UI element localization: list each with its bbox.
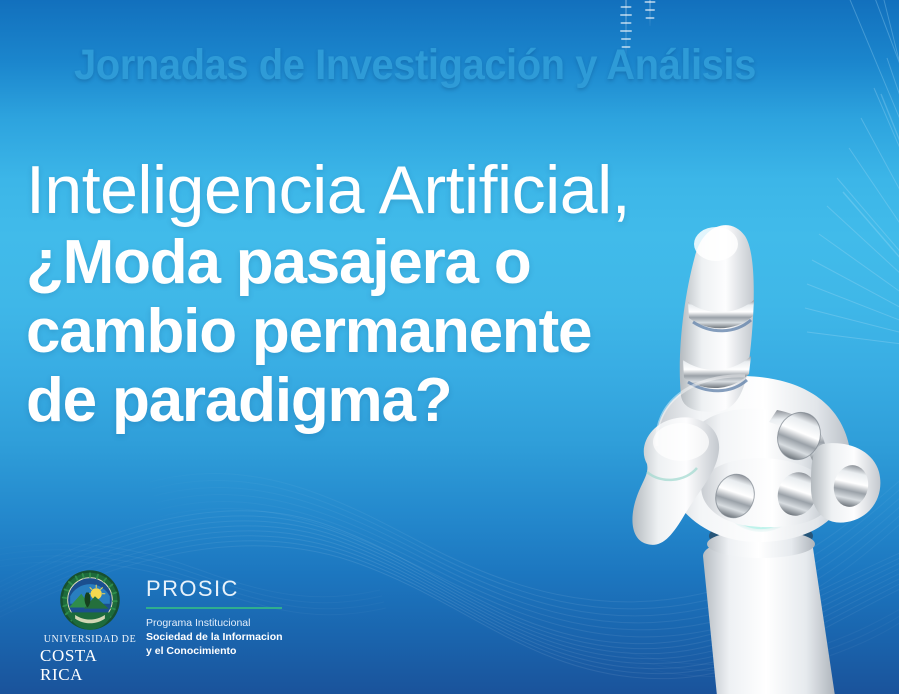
footer-logos: UNIVERSIDAD DE COSTA RICA PROSIC Program… (40, 569, 283, 684)
headline-line-1: Inteligencia Artificial, (26, 152, 726, 228)
university-line-2: COSTA RICA (40, 646, 140, 684)
university-line-1: UNIVERSIDAD DE (44, 634, 137, 646)
prosic-line-1: Programa Institucional (146, 616, 283, 630)
ucr-seal-icon (59, 569, 121, 631)
ucr-logo: UNIVERSIDAD DE COSTA RICA (40, 569, 140, 684)
headline-block: Inteligencia Artificial, ¿Moda pasajera … (26, 152, 726, 435)
prosic-divider (146, 607, 282, 609)
prosic-line-3: y el Conocimiento (146, 644, 283, 658)
prosic-logo: PROSIC Programa Institucional Sociedad d… (146, 569, 283, 658)
poster-canvas: Jornadas de Investigación y Análisis Int… (0, 0, 899, 694)
vertical-dotted-line-short-icon (643, 0, 657, 26)
headline-line-4: de paradigma? (26, 366, 726, 435)
prosic-name: PROSIC (146, 577, 283, 601)
prosic-line-2: Sociedad de la Informacion (146, 630, 283, 644)
event-kicker: Jornadas de Investigación y Análisis (74, 44, 756, 87)
headline-line-3: cambio permanente (26, 297, 726, 366)
headline-line-2: ¿Moda pasajera o (26, 228, 726, 297)
